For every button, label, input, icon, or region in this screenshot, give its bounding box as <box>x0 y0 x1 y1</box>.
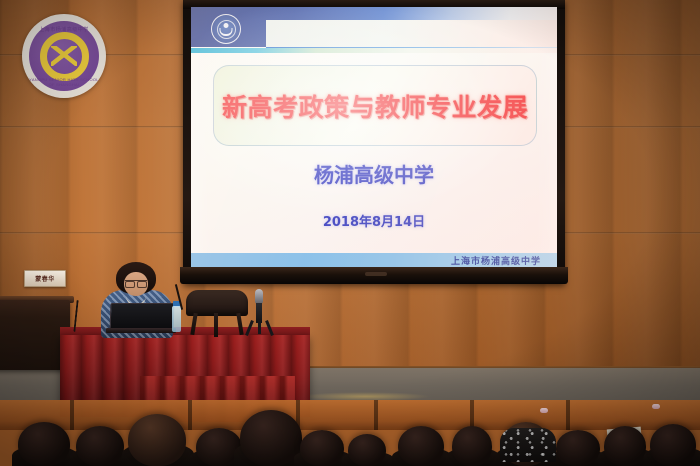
chair-leg <box>214 313 218 337</box>
slide-school-logo-icon <box>211 14 241 44</box>
slide-accent-stripe <box>191 48 557 53</box>
screen-pull-knob <box>365 272 387 276</box>
crest-bottom-text: YANGPU SENIOR HIGH SCHOOL OF SHANGHAI <box>29 77 99 87</box>
audience-head <box>650 424 696 466</box>
audience-head <box>452 426 492 466</box>
crest-bird-icon <box>51 46 77 66</box>
glasses-icon <box>125 280 147 286</box>
audience-head <box>76 426 124 466</box>
audience-head <box>604 426 646 466</box>
seat-divider <box>566 400 570 430</box>
slide-subtitle: 杨浦高级中学 <box>191 159 557 188</box>
audience-head <box>18 422 70 466</box>
slide-logo-mark <box>217 20 236 39</box>
audience-rows <box>0 382 700 466</box>
audience-head <box>556 430 600 466</box>
school-crest-icon: 上海市杨浦高级中学 YANGPU SENIOR HIGH SCHOOL OF S… <box>22 14 106 98</box>
audience-head <box>300 430 344 466</box>
audience-patterned-top <box>500 428 556 462</box>
seat-divider <box>70 400 74 430</box>
speaker-nameplate: 蒙春华 <box>24 270 66 287</box>
hair-clip <box>540 408 548 413</box>
slide-footer-text: 上海市杨浦高级中学 <box>451 254 541 267</box>
crest-top-text: 上海市杨浦高级中学 <box>29 26 99 33</box>
crest-ring: 上海市杨浦高级中学 YANGPU SENIOR HIGH SCHOOL OF S… <box>29 21 99 91</box>
slide-title: 新高考政策与教师专业发展 <box>222 88 528 124</box>
slide-date: 2018年8月14日 <box>191 211 557 230</box>
nameplate-text: 蒙春华 <box>35 274 55 283</box>
water-bottle <box>172 306 181 332</box>
lecture-hall-photo: 上海市杨浦高级中学 YANGPU SENIOR HIGH SCHOOL OF S… <box>0 0 700 466</box>
audience-head <box>240 410 302 466</box>
microphone-stand-leg <box>258 320 261 334</box>
slide-header-panel <box>266 20 557 47</box>
audience-head <box>398 426 444 466</box>
laptop-base <box>106 328 176 333</box>
hair-clip <box>652 404 660 409</box>
seat-divider <box>188 400 192 430</box>
audience-head <box>348 434 386 466</box>
presentation-slide: 新高考政策与教师专业发展 杨浦高级中学 2018年8月14日 上海市杨浦高级中学 <box>191 7 557 268</box>
audience-head <box>128 414 186 466</box>
slide-title-box: 新高考政策与教师专业发展 <box>213 65 537 146</box>
seat-divider <box>374 400 378 430</box>
